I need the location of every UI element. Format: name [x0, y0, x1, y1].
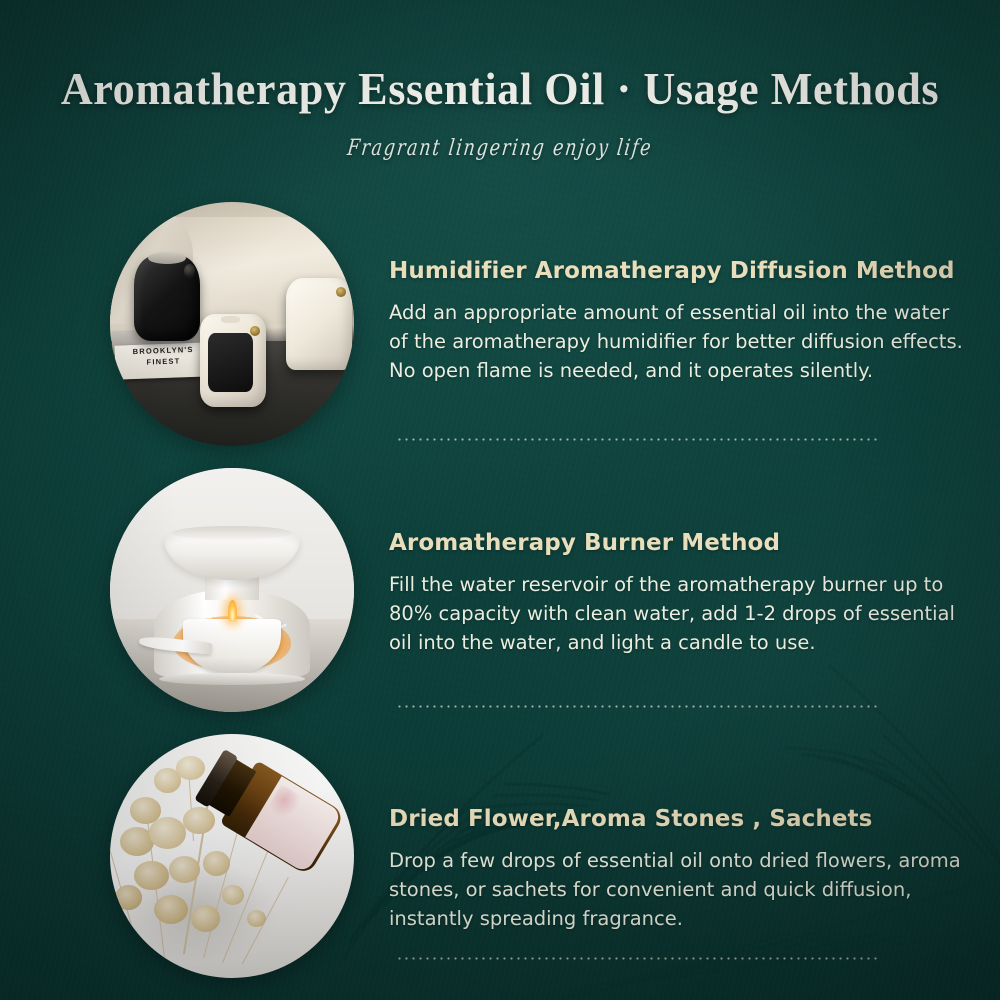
section-body-burner: Fill the water reservoir of the aromathe… [389, 570, 971, 657]
divider-2 [396, 705, 880, 708]
section-text-humidifier: Humidifier Aromatherapy Diffusion Method… [389, 258, 971, 385]
header: Aromatherapy Essential Oil · Usage Metho… [0, 0, 1000, 159]
flame-icon [228, 600, 237, 622]
section-body-humidifier: Add an appropriate amount of essential o… [389, 298, 971, 385]
page-title: Aromatherapy Essential Oil · Usage Metho… [20, 62, 980, 115]
divider-1 [396, 438, 880, 441]
dried-flower-cluster [134, 861, 168, 890]
diffuser-cream [200, 314, 266, 407]
dried-flower-cluster [149, 817, 186, 849]
dried-flower-cluster [169, 856, 201, 883]
divider-3 [396, 957, 880, 960]
page-subtitle: Fragrant lingering enjoy life [38, 135, 961, 161]
dried-flower-cluster [115, 885, 142, 909]
section-text-dried-flower: Dried Flower,Aroma Stones , Sachets Drop… [389, 806, 971, 933]
book-cover-text: BROOKLYN'S FINEST [117, 344, 210, 369]
diffuser-right [286, 278, 352, 371]
section-image-burner [110, 468, 354, 712]
section-body-dried-flower: Drop a few drops of essential oil onto d… [389, 846, 971, 933]
section-burner: Aromatherapy Burner Method Fill the wate… [0, 462, 1000, 730]
section-image-humidifier: BROOKLYN'S FINEST [110, 202, 354, 446]
section-dried-flower: Dried Flower,Aroma Stones , Sachets Drop… [0, 728, 1000, 996]
section-text-burner: Aromatherapy Burner Method Fill the wate… [389, 530, 971, 657]
infographic-page: Aromatherapy Essential Oil · Usage Metho… [0, 0, 1000, 1000]
section-image-dried-flower [110, 734, 354, 978]
dried-flower-cluster [191, 905, 220, 932]
section-humidifier: BROOKLYN'S FINEST Humidifier Aromatherap… [0, 196, 1000, 464]
section-heading-humidifier: Humidifier Aromatherapy Diffusion Method [389, 258, 971, 284]
dried-flower-cluster [222, 885, 244, 905]
section-heading-burner: Aromatherapy Burner Method [389, 530, 971, 556]
dried-flower-cluster [203, 851, 230, 875]
dried-flower-cluster [247, 910, 267, 927]
section-heading-dried-flower: Dried Flower,Aroma Stones , Sachets [389, 806, 971, 832]
diffuser-black [134, 256, 200, 341]
